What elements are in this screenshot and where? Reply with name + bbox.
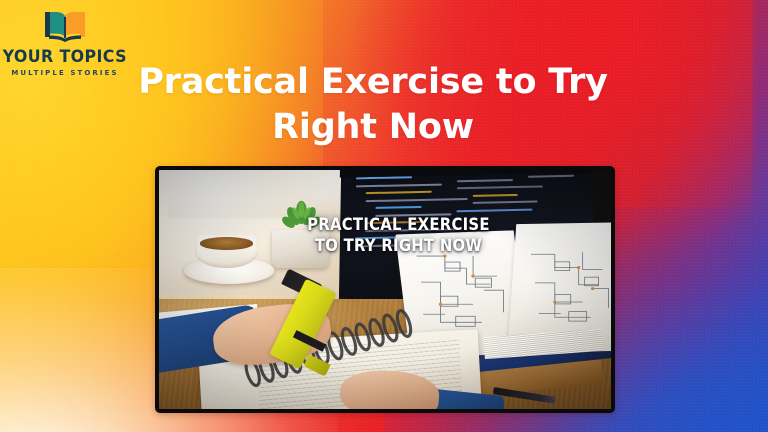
hero-photo: PRACTICAL EXERCISE TO TRY RIGHT NOW [159,170,611,409]
page-title-line-2: Right Now [128,105,618,150]
hero-image-card[interactable]: PRACTICAL EXERCISE TO TRY RIGHT NOW [155,166,615,413]
photo-caption-line-1: PRACTICAL EXERCISE [307,215,490,234]
photo-vignette [159,170,611,409]
photo-overlay-caption: PRACTICAL EXERCISE TO TRY RIGHT NOW [301,215,496,255]
logo-tagline: MULTIPLE STORIES [11,70,118,77]
page-title: Practical Exercise to Try Right Now [128,60,618,150]
photo-caption-line-2: TO TRY RIGHT NOW [301,236,496,256]
brand-logo[interactable]: YOUR TOPICS MULTIPLE STORIES [6,4,124,84]
logo-brand-name: YOUR TOPICS [3,49,127,66]
open-book-icon [43,9,87,43]
page-title-line-1: Practical Exercise to Try [138,62,608,102]
